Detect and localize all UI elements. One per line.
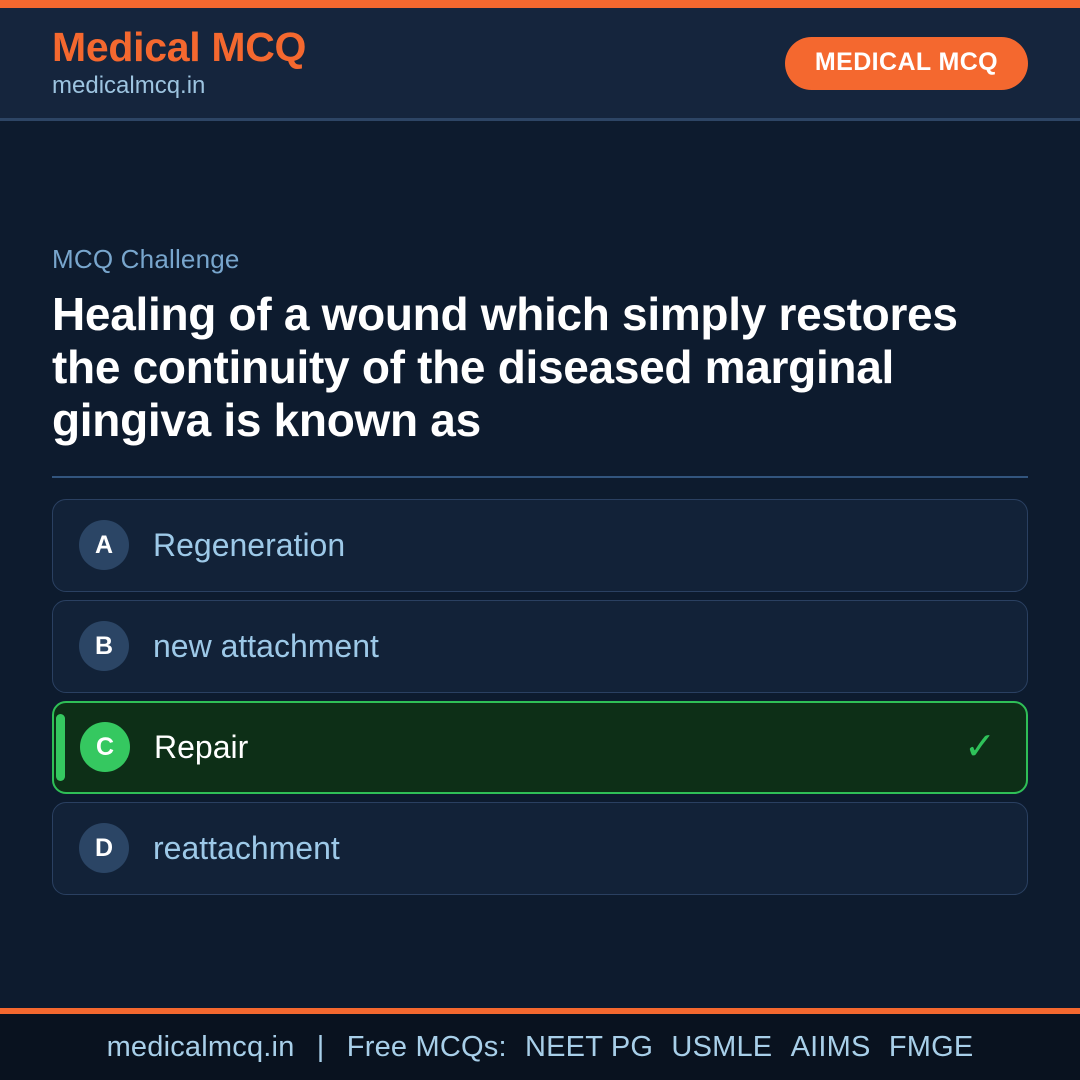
header: Medical MCQ medicalmcq.in MEDICAL MCQ: [0, 8, 1080, 121]
option-letter-badge: A: [79, 520, 129, 570]
mcq-card: Medical MCQ medicalmcq.in MEDICAL MCQ MC…: [0, 0, 1080, 1080]
brand-subtitle: medicalmcq.in: [52, 71, 306, 101]
check-icon: ✓: [964, 728, 996, 766]
footer-text: medicalmcq.in | Free MCQs: NEET PG USMLE…: [107, 1031, 974, 1064]
question-divider: [52, 476, 1028, 478]
option-d[interactable]: D reattachment ✓: [52, 802, 1028, 895]
option-letter-badge: B: [79, 621, 129, 671]
option-a[interactable]: A Regeneration ✓: [52, 499, 1028, 592]
question-text: Healing of a wound which simply restores…: [52, 288, 1012, 448]
options-list: A Regeneration ✓ B new attachment ✓ C Re…: [52, 499, 1028, 895]
footer-site: medicalmcq.in: [107, 1031, 295, 1063]
correct-accent-bar: [56, 714, 65, 781]
option-c[interactable]: C Repair ✓: [52, 701, 1028, 794]
option-label: Repair: [154, 729, 964, 766]
footer: medicalmcq.in | Free MCQs: NEET PG USMLE…: [0, 1008, 1080, 1080]
footer-exam-aiims: AIIMS: [781, 1031, 871, 1063]
header-badge: MEDICAL MCQ: [785, 37, 1028, 90]
kicker-label: MCQ Challenge: [52, 245, 1028, 274]
option-label: new attachment: [153, 628, 965, 665]
option-letter-badge: D: [79, 823, 129, 873]
option-label: reattachment: [153, 830, 965, 867]
footer-exam-neetpg: NEET PG: [515, 1031, 653, 1063]
brand-title: Medical MCQ: [52, 25, 306, 69]
top-accent-bar: [0, 0, 1080, 8]
footer-exam-fmge: FMGE: [879, 1031, 974, 1063]
footer-exam-usmle: USMLE: [661, 1031, 772, 1063]
footer-exams-label: Free MCQs:: [347, 1031, 507, 1063]
footer-separator: |: [303, 1031, 339, 1063]
option-letter-badge: C: [80, 722, 130, 772]
option-b[interactable]: B new attachment ✓: [52, 600, 1028, 693]
option-label: Regeneration: [153, 527, 965, 564]
main-content: MCQ Challenge Healing of a wound which s…: [0, 121, 1080, 1008]
brand-block: Medical MCQ medicalmcq.in: [52, 25, 306, 101]
